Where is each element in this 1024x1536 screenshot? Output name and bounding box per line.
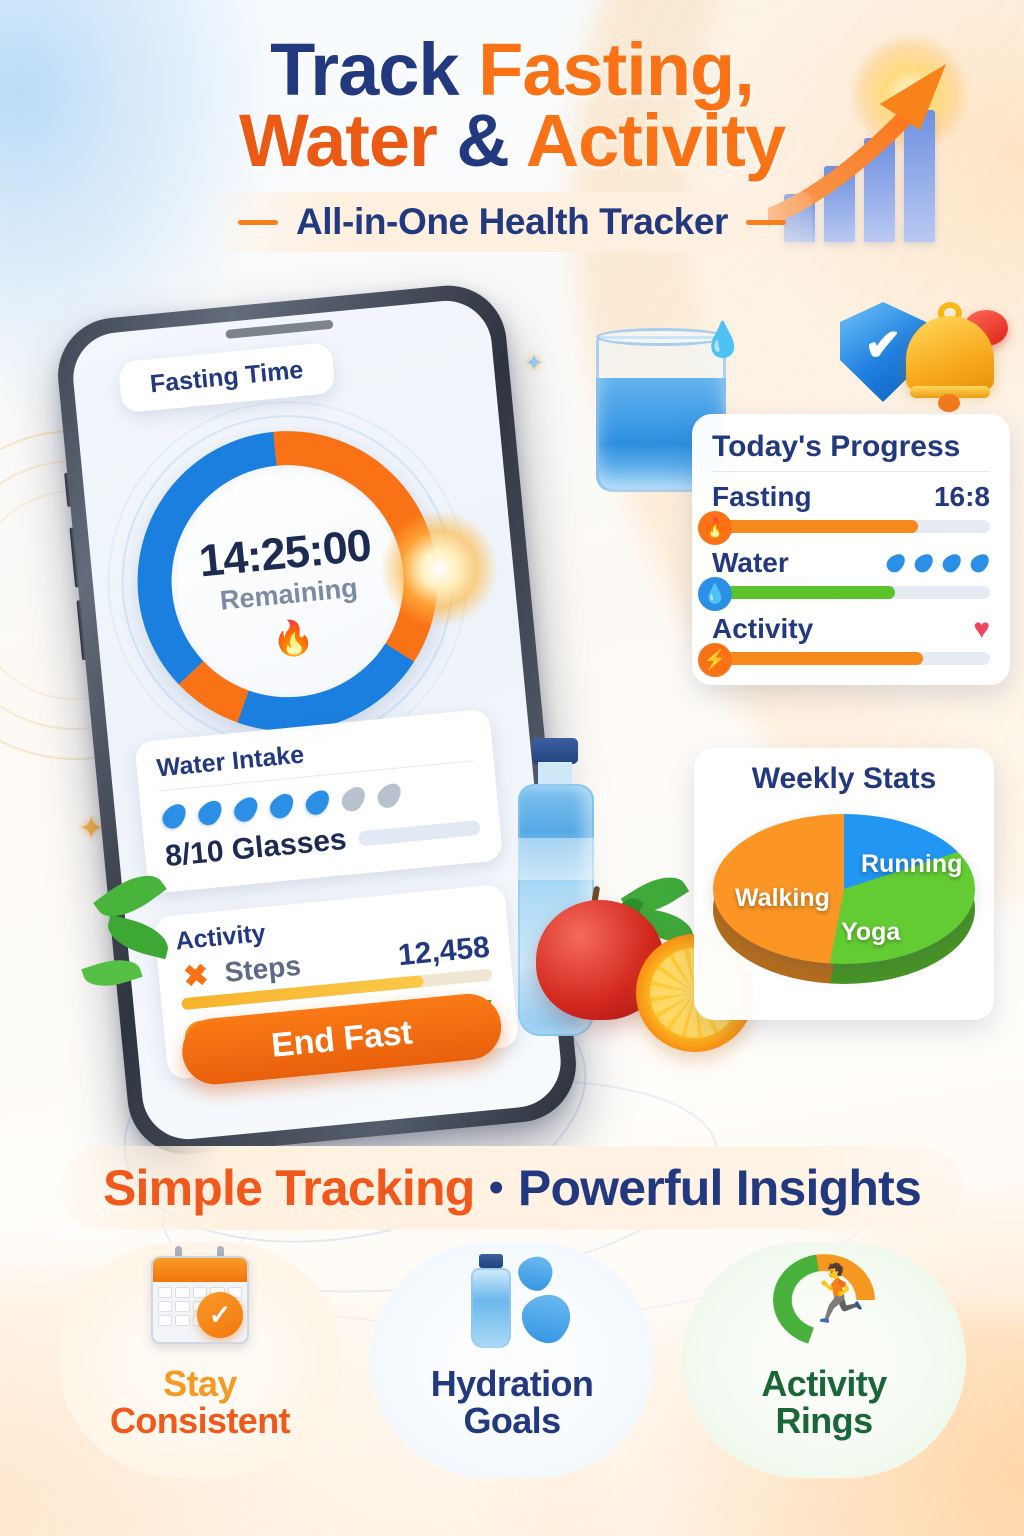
water-drop-filled[interactable] [196, 794, 225, 830]
activity-ring-runner-icon: 🏃 [759, 1252, 889, 1364]
subtitle-band: All-in-One Health Tracker [212, 192, 812, 252]
pie-label-yoga: Yoga [841, 918, 900, 947]
feature-label: Activity Rings [761, 1366, 886, 1439]
todays-progress-card[interactable]: Today's Progress 🔥 Fasting 16:8 💧 Water … [692, 414, 1010, 685]
water-progress-bar [358, 819, 481, 846]
progress-row-name: Water [712, 547, 789, 579]
bottle-cap [532, 738, 578, 764]
feature-label: Stay Consistent [110, 1366, 290, 1439]
activity-icon: ⚡ [698, 643, 732, 677]
feature-row: ✓ Stay Consistent Hydration Goals 🏃 Act [58, 1242, 966, 1478]
progress-row-name: Fasting [712, 481, 812, 513]
water-drop-filled[interactable] [232, 791, 261, 827]
glass-check-icon: ✓ [640, 426, 665, 461]
progress-row-activity[interactable]: ⚡ Activity ♥ [712, 613, 990, 665]
water-drop-filled[interactable] [267, 788, 296, 824]
steps-icon: ✖ [177, 957, 214, 994]
tagline-dot-icon: • [488, 1163, 503, 1213]
progress-row-water[interactable]: 💧 Water [712, 547, 990, 599]
water-drop-icon [512, 1249, 560, 1297]
progress-row-value: 16:8 [934, 481, 990, 513]
fasting-card-title: Fasting Time [149, 356, 305, 399]
water-intake-card[interactable]: Water Intake 8/10 Glasses [134, 708, 503, 893]
water-drop-filled[interactable] [160, 798, 189, 834]
mini-bottle-body [471, 1268, 511, 1348]
activity-progress-fill [712, 652, 923, 665]
water-drop-icon [513, 1284, 581, 1352]
feature-activity-rings[interactable]: 🏃 Activity Rings [682, 1242, 966, 1478]
heart-icon: ♥ [973, 613, 990, 645]
activity-row-label: Activity ♥ [712, 613, 990, 645]
bell-clapper [938, 394, 960, 412]
water-drop-empty[interactable] [375, 777, 404, 813]
weekly-card-title: Weekly Stats [710, 762, 978, 796]
calendar-check-icon: ✓ [135, 1252, 265, 1364]
pie-label-running: Running [861, 850, 962, 879]
water-drop-icon: 💧 [698, 577, 732, 611]
water-bottle-drops-icon [447, 1252, 577, 1364]
fasting-progress-bar [712, 520, 990, 533]
phone-mockup: Fasting Time 14:25:00 Remaining 🔥 Water … [53, 280, 581, 1159]
mini-water-drop [970, 550, 990, 576]
phone-screen: Fasting Time 14:25:00 Remaining 🔥 Water … [69, 297, 565, 1144]
feature-label-top: Stay [110, 1366, 290, 1403]
water-progress-bar [712, 586, 990, 599]
divider [712, 471, 990, 472]
feature-label-top: Hydration [431, 1366, 594, 1403]
feature-label-bottom: Consistent [110, 1400, 290, 1441]
title-word-water: Water [239, 99, 437, 182]
progress-card-title: Today's Progress [712, 430, 990, 464]
page-subtitle: All-in-One Health Tracker [296, 201, 728, 243]
page-title-line-1: Track Fasting, [0, 34, 1024, 105]
tagline-band: Simple Tracking • Powerful Insights [60, 1146, 964, 1230]
water-drop-empty[interactable] [339, 781, 368, 817]
steps-value: 12,458 [397, 931, 492, 974]
title-word-ampersand: & [437, 99, 526, 182]
pie-label-walking: Walking [735, 884, 830, 913]
feature-stay-consistent[interactable]: ✓ Stay Consistent [58, 1242, 342, 1478]
feature-hydration-goals[interactable]: Hydration Goals [370, 1242, 654, 1478]
fasting-progress-fill [712, 520, 918, 533]
dash-right-icon [746, 220, 786, 225]
calendar-header [153, 1258, 247, 1282]
runner-icon: 🏃 [803, 1266, 873, 1322]
water-splash-icon: 💧 [702, 320, 744, 360]
mini-water-drop [942, 550, 962, 576]
water-drop-filled[interactable] [303, 784, 332, 820]
water-mini-drops [886, 550, 990, 576]
feature-label-bottom: Goals [463, 1400, 560, 1441]
weekly-stats-card[interactable]: Weekly Stats Running Walking Yoga [694, 748, 994, 1020]
bottle-label [518, 838, 594, 880]
calendar-body: ✓ [151, 1256, 249, 1344]
activity-progress-bar [712, 652, 990, 665]
progress-row-name: Activity [712, 613, 813, 645]
header: Track Fasting, Water & Activity All-in-O… [0, 34, 1024, 252]
weekly-stats-pie-chart[interactable]: Running Walking Yoga [713, 806, 975, 1002]
progress-row-fasting[interactable]: 🔥 Fasting 16:8 [712, 481, 990, 533]
calendar-check-badge: ✓ [197, 1292, 243, 1338]
feature-label: Hydration Goals [431, 1366, 594, 1439]
tagline-left: Simple Tracking [103, 1159, 474, 1217]
mini-bottle-icon [465, 1254, 515, 1348]
fire-icon: 🔥 [698, 511, 732, 545]
shield-and-bell-graphic: ✔ [832, 294, 1010, 410]
mini-water-drop [914, 550, 934, 576]
sparkle-icon: ✦ [524, 352, 544, 376]
feature-label-top: Activity [761, 1366, 886, 1403]
phone-notch [225, 320, 333, 339]
mini-water-drop [886, 550, 906, 576]
feature-label-bottom: Rings [775, 1400, 872, 1441]
title-word-activity: Activity [526, 99, 785, 182]
fasting-row-label: Fasting 16:8 [712, 481, 990, 513]
tagline-right: Powerful Insights [518, 1159, 921, 1217]
water-row-label: Water [712, 547, 990, 579]
steps-label: Steps [223, 950, 302, 989]
water-progress-fill [712, 586, 895, 599]
dash-left-icon [238, 220, 278, 225]
page-title-line-2: Water & Activity [0, 105, 1024, 176]
mini-bottle-cap [479, 1254, 503, 1268]
